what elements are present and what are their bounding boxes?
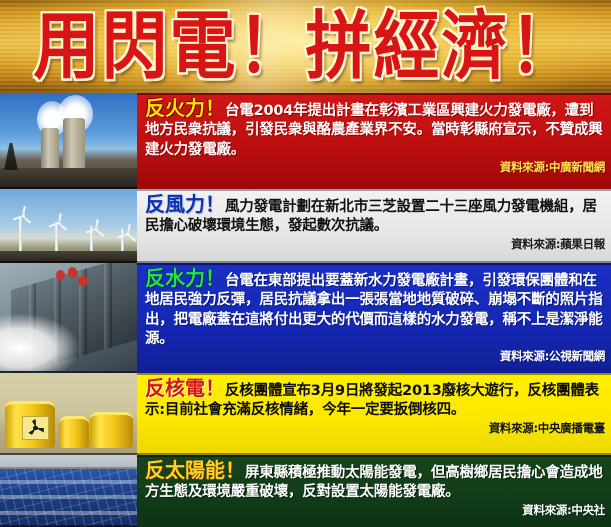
nuclear-waste-drum-icon — [0, 373, 137, 455]
hydro-dam-icon — [0, 263, 137, 373]
banner-header: 用閃電！拼經濟！ — [0, 0, 611, 93]
thumbnail-wind-turbines — [0, 189, 137, 263]
row-nuclear-source: 資料來源:中央廣播電臺 — [145, 422, 605, 435]
row-wind-headline: 反風力！ — [145, 192, 225, 216]
row-nuclear: 反核電！反核團體宣布3月9日將發起2013廢核大遊行，反核團體表示:目前社會充滿… — [0, 373, 611, 455]
row-wind-text: 反風力！風力發電計劃在新北市三芝設置二十三座風力發電機組，居民擔心破壞環境生態，… — [145, 194, 605, 237]
thumbnail-hydro-dam — [0, 263, 137, 373]
coal-power-plant-icon — [0, 93, 137, 189]
wind-turbine-icon — [0, 189, 137, 263]
row-water-source: 資料來源:公視新聞網 — [145, 350, 605, 363]
row-solar-text: 反太陽能！屏東縣積極推動太陽能發電，但高樹鄉居民擔心會造成地方生態及環境嚴重破壞… — [145, 460, 605, 503]
thumbnail-nuclear-drums — [0, 373, 137, 455]
row-water: 反水力！台電在東部提出要蓋新水力發電廠計畫，引發環保團體和在地居民強力反彈，居民… — [0, 263, 611, 373]
row-nuclear-headline: 反核電！ — [145, 376, 225, 400]
row-fire-headline: 反火力！ — [145, 96, 225, 120]
panel-fire: 反火力！台電2004年提出計畫在彰濱工業區興建火力發電廠，遭到地方民衆抗議，引發… — [137, 93, 611, 189]
row-wind-source: 資料來源:蘋果日報 — [145, 238, 605, 251]
thumbnail-coal-power-plant — [0, 93, 137, 189]
row-wind: 反風力！風力發電計劃在新北市三芝設置二十三座風力發電機組，居民擔心破壞環境生態，… — [0, 189, 611, 263]
radiation-trefoil-icon — [22, 416, 49, 441]
panel-wind: 反風力！風力發電計劃在新北市三芝設置二十三座風力發電機組，居民擔心破壞環境生態，… — [137, 189, 611, 263]
row-water-text: 反水力！台電在東部提出要蓋新水力發電廠計畫，引發環保團體和在地居民強力反彈，居民… — [145, 268, 605, 349]
solar-panel-icon — [0, 455, 137, 527]
rows-container: 反火力！台電2004年提出計畫在彰濱工業區興建火力發電廠，遭到地方民衆抗議，引發… — [0, 93, 611, 527]
row-fire-source: 資料來源:中廣新聞網 — [145, 161, 605, 174]
row-solar-headline: 反太陽能！ — [145, 458, 245, 482]
row-nuclear-text: 反核電！反核團體宣布3月9日將發起2013廢核大遊行，反核團體表示:目前社會充滿… — [145, 378, 605, 421]
panel-nuclear: 反核電！反核團體宣布3月9日將發起2013廢核大遊行，反核團體表示:目前社會充滿… — [137, 373, 611, 455]
row-fire-text: 反火力！台電2004年提出計畫在彰濱工業區興建火力發電廠，遭到地方民衆抗議，引發… — [145, 98, 605, 160]
infographic-page: 用閃電！拼經濟！ 反火力！台電2004年提出計畫在彰濱工業區興建火力發電廠，遭到… — [0, 0, 611, 527]
panel-solar: 反太陽能！屏東縣積極推動太陽能發電，但高樹鄉居民擔心會造成地方生態及環境嚴重破壞… — [137, 455, 611, 527]
panel-water: 反水力！台電在東部提出要蓋新水力發電廠計畫，引發環保團體和在地居民強力反彈，居民… — [137, 263, 611, 373]
row-solar: 反太陽能！屏東縣積極推動太陽能發電，但高樹鄉居民擔心會造成地方生態及環境嚴重破壞… — [0, 455, 611, 527]
thumbnail-solar-panels — [0, 455, 137, 527]
row-water-headline: 反水力！ — [145, 266, 225, 290]
row-fire: 反火力！台電2004年提出計畫在彰濱工業區興建火力發電廠，遭到地方民衆抗議，引發… — [0, 93, 611, 189]
row-solar-source: 資料來源:中央社 — [145, 504, 605, 517]
banner-title: 用閃電！拼經濟！ — [0, 0, 611, 93]
